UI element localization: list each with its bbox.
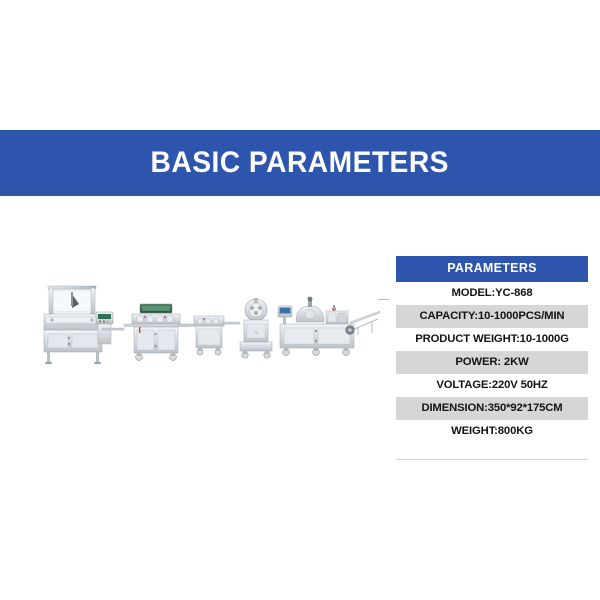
spec-dimension: DIMENSION:350*92*175CM: [396, 397, 588, 420]
table-row: PRODUCT WEIGHT:10-1000G: [396, 328, 588, 351]
machine-moulder: [194, 316, 224, 355]
spec-model: MODEL:YC-868: [396, 282, 588, 305]
table-row: POWER: 2KW: [396, 351, 588, 374]
product-spec-page: BASIC PARAMETERS: [0, 0, 600, 600]
table-row: WEIGHT:800KG: [396, 420, 588, 443]
table-header-cell: PARAMETERS: [396, 256, 588, 282]
spec-weight: WEIGHT:800KG: [396, 420, 588, 443]
table-row: DIMENSION:350*92*175CM: [396, 397, 588, 420]
machine-encrusting: YC: [240, 298, 272, 358]
svg-text:YC: YC: [254, 331, 259, 335]
machine-dough-sheeter: [124, 304, 190, 360]
spec-power: POWER: 2KW: [396, 351, 588, 374]
page-title: BASIC PARAMETERS: [151, 148, 449, 178]
spec-voltage: VOLTAGE:220V 50HZ: [396, 374, 588, 397]
parameters-table: PARAMETERS MODEL:YC-868 CAPACITY:10-1000…: [396, 256, 588, 443]
machine-forming-output: [278, 297, 380, 356]
spec-product-weight: PRODUCT WEIGHT:10-1000G: [396, 328, 588, 351]
production-line-illustration: YC: [28, 278, 383, 370]
table-left-tick: [378, 299, 389, 300]
basic-parameters-banner: BASIC PARAMETERS: [0, 130, 600, 196]
table-row: MODEL:YC-868: [396, 282, 588, 305]
table-row: CAPACITY:10-1000PCS/MIN: [396, 305, 588, 328]
spec-capacity: CAPACITY:10-1000PCS/MIN: [396, 305, 588, 328]
machine-dough-divider: [44, 286, 113, 364]
table-header-row: PARAMETERS: [396, 256, 588, 282]
table-row: VOLTAGE:220V 50HZ: [396, 374, 588, 397]
table-bottom-rule: [396, 459, 588, 460]
